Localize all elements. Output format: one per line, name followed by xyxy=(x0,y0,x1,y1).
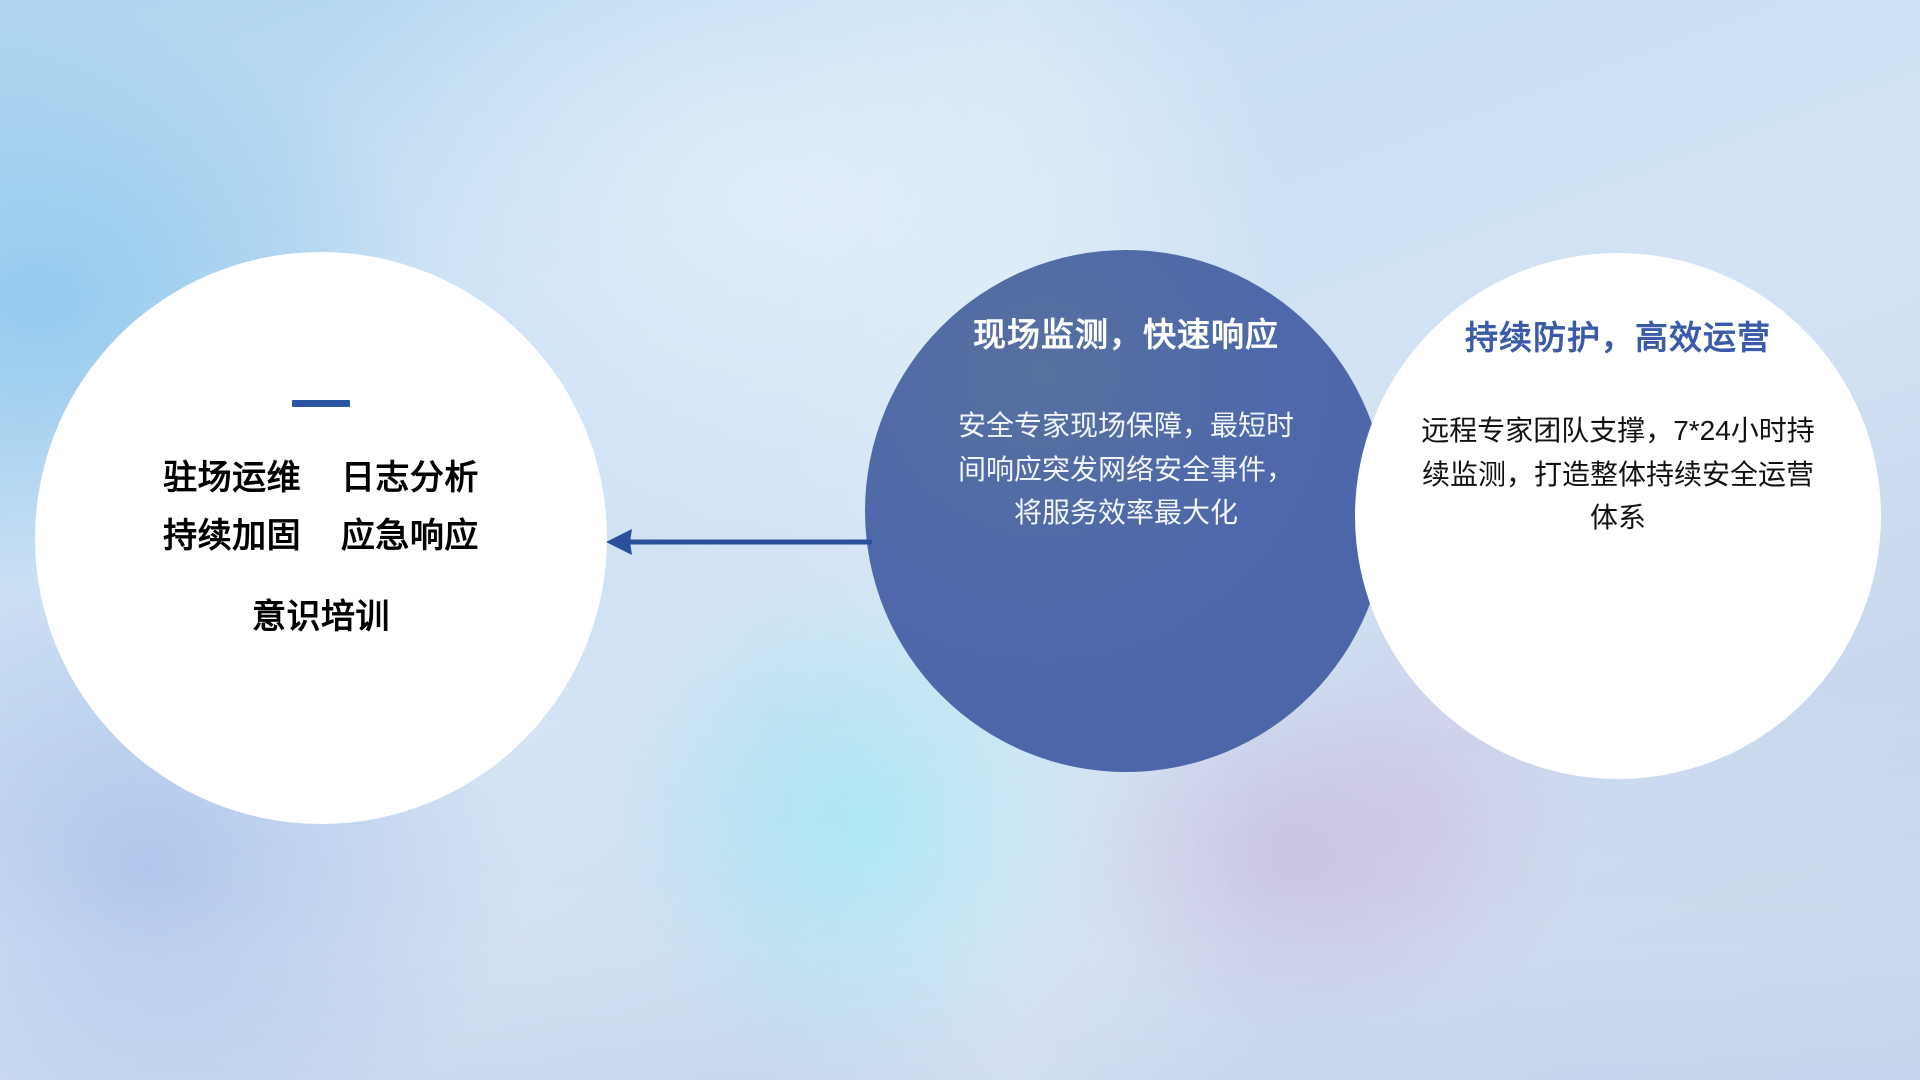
node-middle-circle[interactable]: 现场监测，快速响应 安全专家现场保障，最短时间响应突发网络安全事件，将服务效率最… xyxy=(865,250,1387,772)
right-circle-title: 持续防护，高效运营 xyxy=(1465,311,1771,359)
divider-dash-icon xyxy=(292,400,350,407)
slide-canvas: 驻场运维 日志分析 持续加固 应急响应 意识培训 现场监测，快速响应 安全专家现… xyxy=(0,0,1920,1080)
flow-arrow-icon xyxy=(600,520,875,564)
middle-circle-body: 安全专家现场保障，最短时间响应突发网络安全事件，将服务效率最大化 xyxy=(951,404,1301,535)
right-circle-body: 远程专家团队支撑，7*24小时持续监测，打造整体持续安全运营体系 xyxy=(1418,409,1818,540)
left-circle-keywords: 驻场运维 日志分析 持续加固 应急响应 意识培训 xyxy=(35,449,607,646)
keyword-row-1: 驻场运维 日志分析 xyxy=(163,449,479,507)
keyword-row-3: 意识培训 xyxy=(252,588,390,646)
keyword-row-2: 持续加固 应急响应 xyxy=(163,507,479,565)
middle-circle-title: 现场监测，快速响应 xyxy=(973,308,1279,356)
node-right-circle[interactable]: 持续防护，高效运营 远程专家团队支撑，7*24小时持续监测，打造整体持续安全运营… xyxy=(1355,253,1881,779)
node-left-circle[interactable]: 驻场运维 日志分析 持续加固 应急响应 意识培训 xyxy=(35,252,607,824)
